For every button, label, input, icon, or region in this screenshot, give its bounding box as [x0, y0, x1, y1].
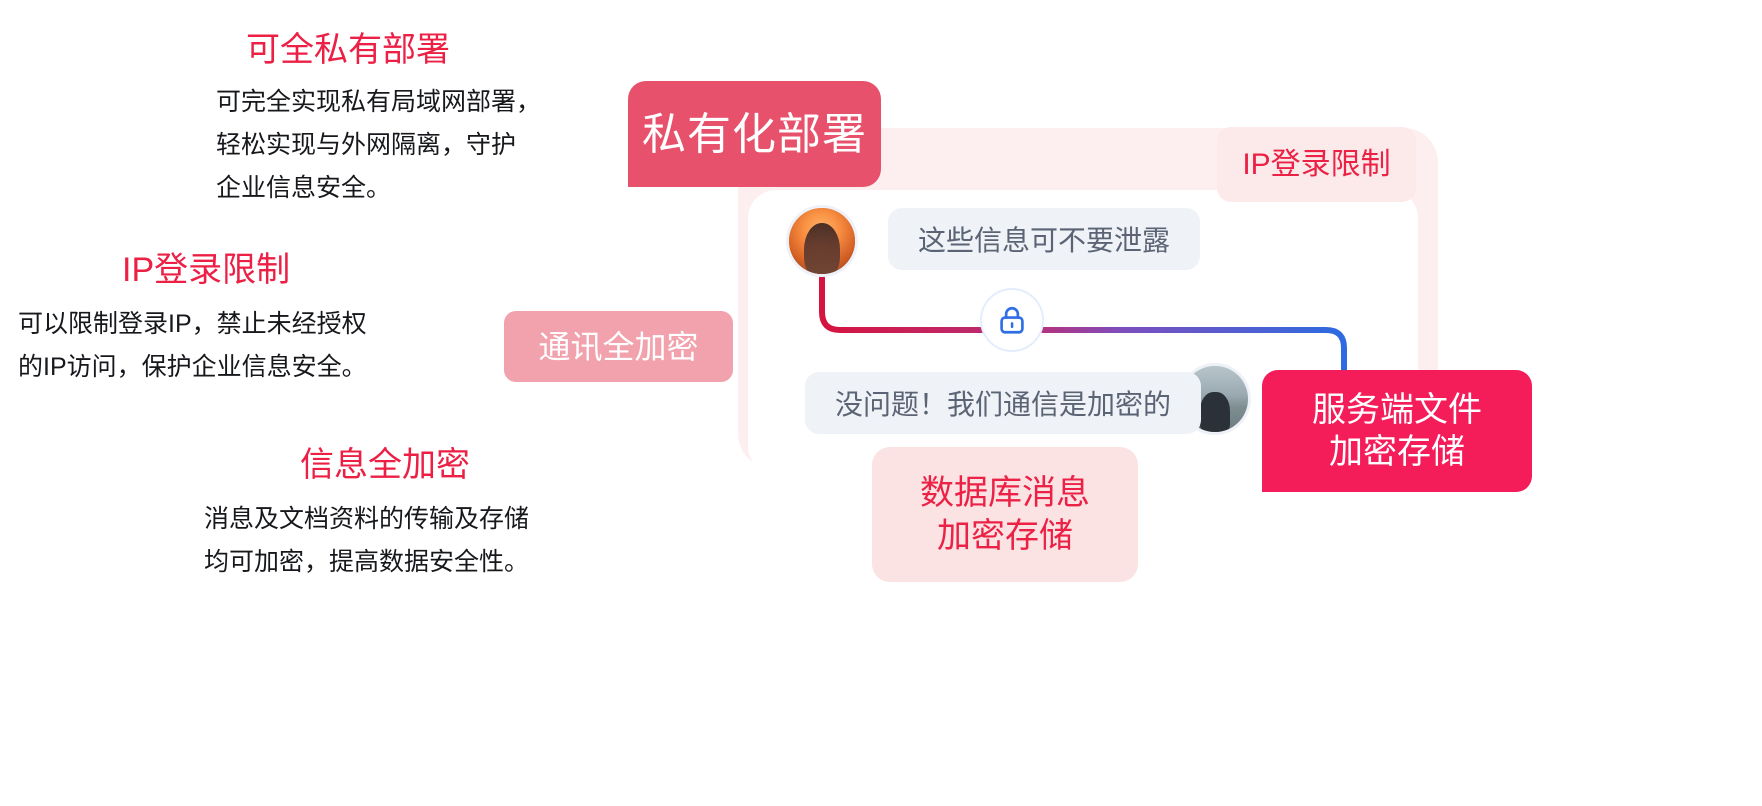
badge-comm-encrypted: 通讯全加密	[504, 311, 733, 382]
feature-body-line: 轻松实现与外网隔离，守护	[216, 124, 640, 167]
badge-ip-limit: IP登录限制	[1217, 127, 1416, 202]
feature-body-line: 均可加密，提高数据安全性。	[204, 541, 640, 584]
feature-title: 可全私有部署	[0, 30, 640, 71]
chat-bubble-outgoing: 没问题！我们通信是加密的	[805, 372, 1201, 434]
chat-bubble-incoming: 这些信息可不要泄露	[888, 208, 1200, 270]
feature-title: 信息全加密	[0, 445, 640, 486]
infographic-canvas: 可全私有部署 可完全实现私有局域网部署， 轻松实现与外网隔离，守护 企业信息安全…	[0, 0, 1762, 806]
avatar-user-left	[786, 205, 858, 277]
lock-icon	[996, 304, 1028, 336]
feature-body: 可完全实现私有局域网部署， 轻松实现与外网隔离，守护 企业信息安全。	[0, 81, 640, 210]
feature-body-line: 可完全实现私有局域网部署，	[216, 81, 640, 124]
avatar-image	[789, 208, 855, 274]
badge-server-file-encrypted-storage: 服务端文件 加密存储	[1262, 370, 1532, 492]
feature-body-line: 消息及文档资料的传输及存储	[204, 498, 640, 541]
feature-title: IP登录限制	[0, 250, 640, 291]
badge-db-encrypted-storage: 数据库消息 加密存储	[872, 447, 1138, 582]
badge-private-deploy: 私有化部署	[628, 81, 881, 187]
feature-body-line: 企业信息安全。	[216, 167, 640, 210]
feature-block-full-encryption: 信息全加密 消息及文档资料的传输及存储 均可加密，提高数据安全性。	[0, 445, 640, 584]
feature-body: 消息及文档资料的传输及存储 均可加密，提高数据安全性。	[0, 498, 640, 584]
feature-block-private-deploy: 可全私有部署 可完全实现私有局域网部署， 轻松实现与外网隔离，守护 企业信息安全…	[0, 30, 640, 210]
lock-node	[980, 288, 1044, 352]
